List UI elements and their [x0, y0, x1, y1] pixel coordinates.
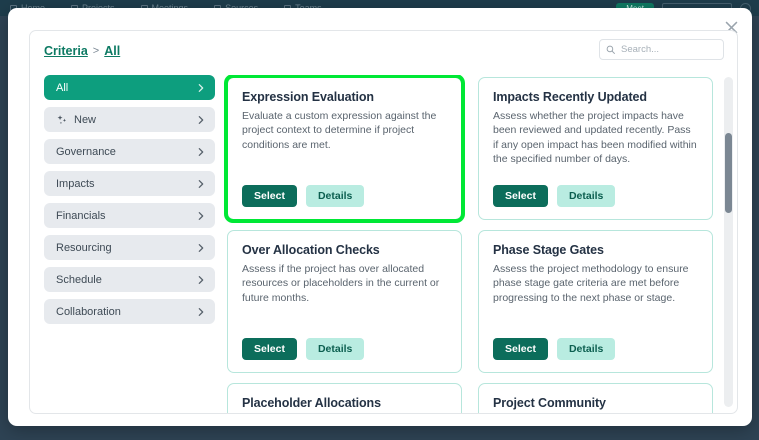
sidebar-item-new-label-wrap: New	[56, 114, 196, 126]
criteria-panel: Criteria > All All	[29, 30, 738, 414]
chevron-right-icon	[196, 211, 206, 221]
details-button[interactable]: Details	[306, 185, 364, 207]
select-button[interactable]: Select	[242, 185, 297, 207]
sidebar-item-impacts[interactable]: Impacts	[44, 171, 215, 196]
search-icon	[606, 45, 615, 54]
criteria-cards-region: Expression Evaluation Evaluate a custom …	[223, 75, 737, 413]
details-button[interactable]: Details	[557, 185, 615, 207]
criteria-sidebar: All New	[30, 75, 223, 413]
card-title: Project Community	[493, 396, 698, 410]
card-description: Assess the project methodology to ensure…	[493, 262, 698, 305]
criteria-card-over-allocation-checks[interactable]: Over Allocation Checks Assess if the pro…	[227, 230, 462, 373]
sidebar-item-governance-label-wrap: Governance	[56, 146, 196, 158]
criteria-card-project-community[interactable]: Project Community Assess if the project …	[478, 383, 713, 413]
card-actions: Select Details	[493, 175, 698, 207]
card-description: Assess if the project has over allocated…	[242, 262, 447, 305]
card-actions: Select Details	[242, 328, 447, 360]
search-box[interactable]	[599, 39, 724, 60]
card-title: Expression Evaluation	[242, 90, 447, 104]
sidebar-item-governance[interactable]: Governance	[44, 139, 215, 164]
chevron-right-icon	[196, 147, 206, 157]
search-input[interactable]	[619, 43, 717, 56]
chevron-right-icon	[196, 243, 206, 253]
sidebar-item-label: All	[56, 82, 68, 94]
chevron-right-icon	[196, 179, 206, 189]
sidebar-item-label: Collaboration	[56, 306, 121, 318]
select-button[interactable]: Select	[242, 338, 297, 360]
sidebar-item-collaboration[interactable]: Collaboration	[44, 299, 215, 324]
criteria-card-expression-evaluation[interactable]: Expression Evaluation Evaluate a custom …	[227, 77, 462, 220]
sidebar-item-impacts-label-wrap: Impacts	[56, 178, 196, 190]
card-title: Over Allocation Checks	[242, 243, 447, 257]
sparkles-icon	[56, 114, 68, 126]
sidebar-item-label: Impacts	[56, 178, 95, 190]
details-button[interactable]: Details	[557, 338, 615, 360]
card-title: Phase Stage Gates	[493, 243, 698, 257]
details-button[interactable]: Details	[306, 338, 364, 360]
sidebar-item-all[interactable]: All	[44, 75, 215, 100]
criteria-card-impacts-recently-updated[interactable]: Impacts Recently Updated Assess whether …	[478, 77, 713, 220]
criteria-card-placeholder-allocations[interactable]: Placeholder Allocations Assess if the pr…	[227, 383, 462, 413]
sidebar-item-schedule-label-wrap: Schedule	[56, 274, 196, 286]
sidebar-item-resourcing-label-wrap: Resourcing	[56, 242, 196, 254]
card-actions: Select Details	[493, 328, 698, 360]
sidebar-item-financials-label-wrap: Financials	[56, 210, 196, 222]
sidebar-item-label: Resourcing	[56, 242, 112, 254]
select-button[interactable]: Select	[493, 338, 548, 360]
chevron-right-icon	[196, 115, 206, 125]
sidebar-item-new[interactable]: New	[44, 107, 215, 132]
sidebar-item-financials[interactable]: Financials	[44, 203, 215, 228]
sidebar-item-resourcing[interactable]: Resourcing	[44, 235, 215, 260]
sidebar-item-schedule[interactable]: Schedule	[44, 267, 215, 292]
chevron-right-icon	[196, 307, 206, 317]
card-description: Assess whether the project impacts have …	[493, 109, 698, 167]
cards-scrollbar[interactable]	[724, 77, 733, 407]
card-title: Placeholder Allocations	[242, 396, 447, 410]
scrollbar-thumb[interactable]	[725, 133, 732, 213]
sidebar-item-collaboration-label-wrap: Collaboration	[56, 306, 196, 318]
card-description: Evaluate a custom expression against the…	[242, 109, 447, 152]
sidebar-item-all-label-wrap: All	[56, 82, 196, 94]
breadcrumb-separator: >	[93, 45, 99, 57]
select-button[interactable]: Select	[493, 185, 548, 207]
breadcrumb-link-criteria[interactable]: Criteria	[44, 44, 88, 58]
sidebar-item-label: Schedule	[56, 274, 102, 286]
breadcrumb: Criteria > All	[44, 44, 120, 58]
chevron-right-icon	[196, 83, 206, 93]
criteria-card-phase-stage-gates[interactable]: Phase Stage Gates Assess the project met…	[478, 230, 713, 373]
card-title: Impacts Recently Updated	[493, 90, 698, 104]
sidebar-item-label: Governance	[56, 146, 116, 158]
card-actions: Select Details	[242, 175, 447, 207]
criteria-cards-grid: Expression Evaluation Evaluate a custom …	[223, 75, 733, 413]
chevron-right-icon	[196, 275, 206, 285]
breadcrumb-link-all[interactable]: All	[104, 44, 120, 58]
panel-header: Criteria > All	[30, 31, 737, 75]
sidebar-item-label: New	[74, 114, 96, 126]
criteria-modal: Criteria > All All	[8, 8, 752, 426]
sidebar-item-label: Financials	[56, 210, 106, 222]
panel-body: All New	[30, 75, 737, 413]
